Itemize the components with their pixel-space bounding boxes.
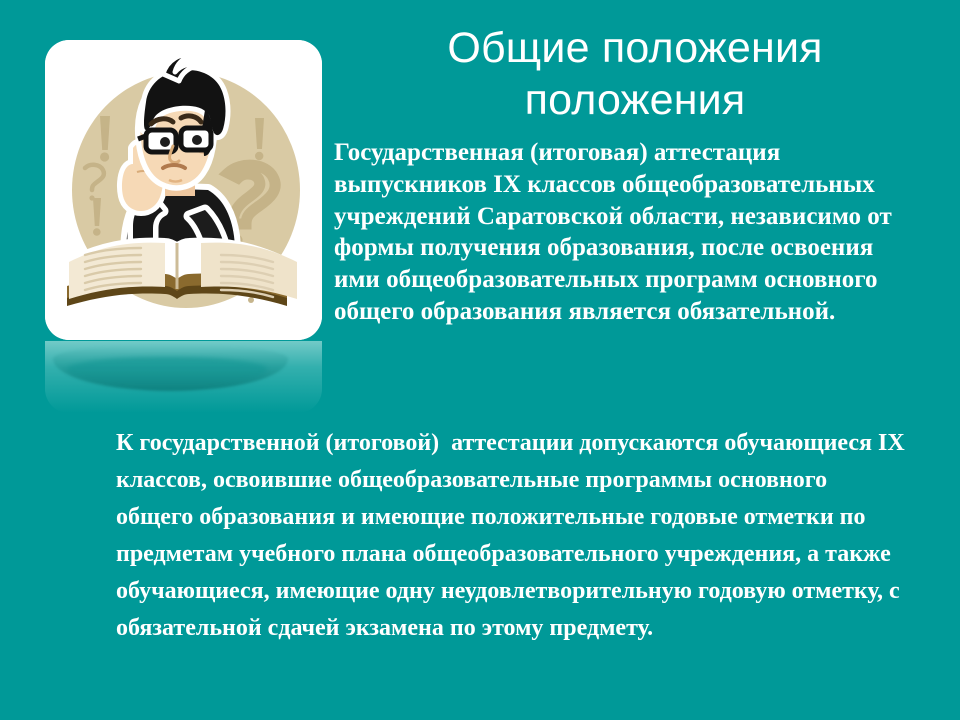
illustration-image: [45, 40, 322, 340]
illustration-card: [45, 40, 322, 340]
body-paragraph-two: К государственной (итоговой) аттестации …: [116, 425, 906, 647]
page-title: Общие положения положения: [330, 22, 940, 126]
reflection-book-shadow: [67, 357, 267, 387]
presentation-slide: Общие положения положения: [0, 0, 960, 720]
reflection-book-shape: [53, 345, 288, 391]
illustration-reflection: [45, 341, 322, 413]
reflection-sheen: [45, 341, 322, 413]
thinking-man-with-book-icon: [45, 40, 322, 340]
body-paragraph-one: Государственная (итоговая) аттестация вы…: [334, 137, 894, 328]
